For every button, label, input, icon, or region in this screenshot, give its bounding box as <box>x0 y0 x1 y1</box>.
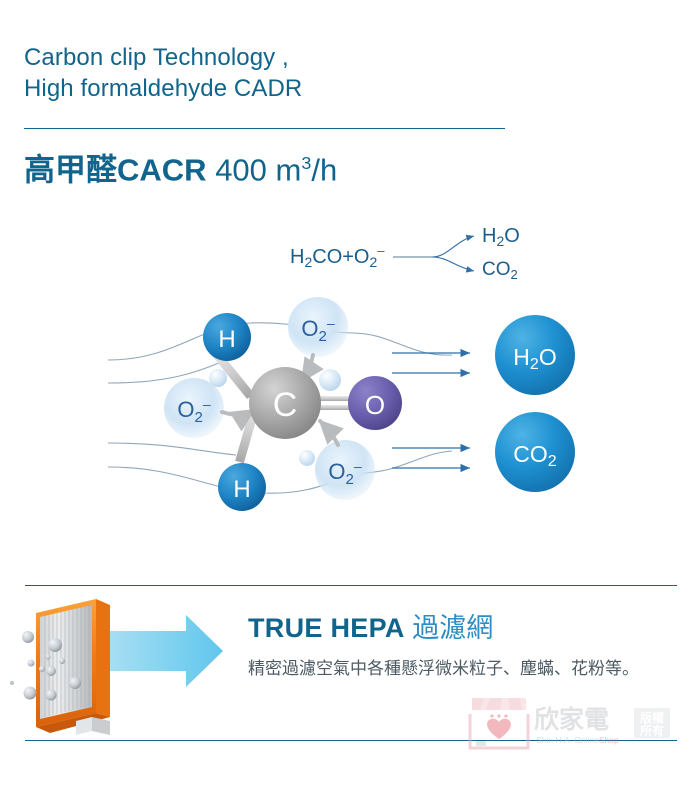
product-arrows <box>392 353 470 468</box>
oxygen-ion-cloud-left: O2– <box>164 378 224 438</box>
formaldehyde-decomposition-diagram: H2CO+O2– H2O CO2 O2– <box>0 205 700 535</box>
svg-text:H: H <box>218 326 235 353</box>
cadr-exponent: 3 <box>301 153 311 173</box>
hepa-filter-illustration <box>18 595 243 740</box>
svg-text:C: C <box>273 386 298 424</box>
hepa-title: TRUE HEPA 過濾網 <box>248 610 688 646</box>
section-divider-top <box>25 585 677 586</box>
atom-hydrogen-top: H <box>203 313 251 361</box>
copyright-badge: 版權 所有 <box>634 708 670 738</box>
svg-text:H2CO+O2–: H2CO+O2– <box>290 243 385 270</box>
section-divider-bottom <box>25 740 677 741</box>
cadr-value: 400 m <box>215 152 301 187</box>
cadr-unit: /h <box>311 152 337 187</box>
header-line-2: High formaldehyde CADR <box>24 73 524 104</box>
svg-text:CO2: CO2 <box>482 259 518 282</box>
hepa-description: 精密過濾空氣中各種懸浮微米粒子、塵蟎、花粉等。 <box>248 655 688 683</box>
svg-text:版權: 版權 <box>640 710 664 725</box>
cadr-label: 高甲醛CACR <box>24 152 207 187</box>
filter-body <box>36 599 110 735</box>
header-line-1: Carbon clip Technology , <box>24 42 524 73</box>
decorative-dot <box>10 681 14 685</box>
hepa-text-block: TRUE HEPA 過濾網 精密過濾空氣中各種懸浮微米粒子、塵蟎、花粉等。 <box>248 610 688 683</box>
airflow-arrow <box>106 615 223 687</box>
oxygen-ion-cloud-bottom: O2– <box>315 440 375 500</box>
cadr-subheading: 高甲醛CACR 400 m3/h <box>24 143 337 190</box>
hepa-title-zh: 過濾網 <box>412 613 493 643</box>
product-sphere-water: H2O <box>495 315 575 395</box>
atom-carbon: C <box>249 367 321 439</box>
atom-oxygen: O <box>348 376 402 430</box>
page-header: Carbon clip Technology , High formaldehy… <box>24 42 524 104</box>
svg-text:O: O <box>365 390 385 420</box>
atom-hydrogen-bottom: H <box>218 463 266 511</box>
reaction-equation: H2CO+O2– H2O CO2 <box>290 225 520 282</box>
shop-watermark: 欣家電 Shin H.A. OnlineShop 版權 所有 <box>466 694 681 752</box>
svg-text:H2O: H2O <box>482 225 520 249</box>
watermark-shop-name: 欣家電 <box>534 705 609 734</box>
svg-text:所有: 所有 <box>640 723 664 738</box>
product-sphere-carbon-dioxide: CO2 <box>495 412 575 492</box>
hepa-title-en: TRUE HEPA <box>248 613 405 643</box>
header-divider <box>24 128 505 129</box>
svg-text:H: H <box>233 476 250 503</box>
oxygen-ion-cloud-top: O2– <box>288 297 348 357</box>
